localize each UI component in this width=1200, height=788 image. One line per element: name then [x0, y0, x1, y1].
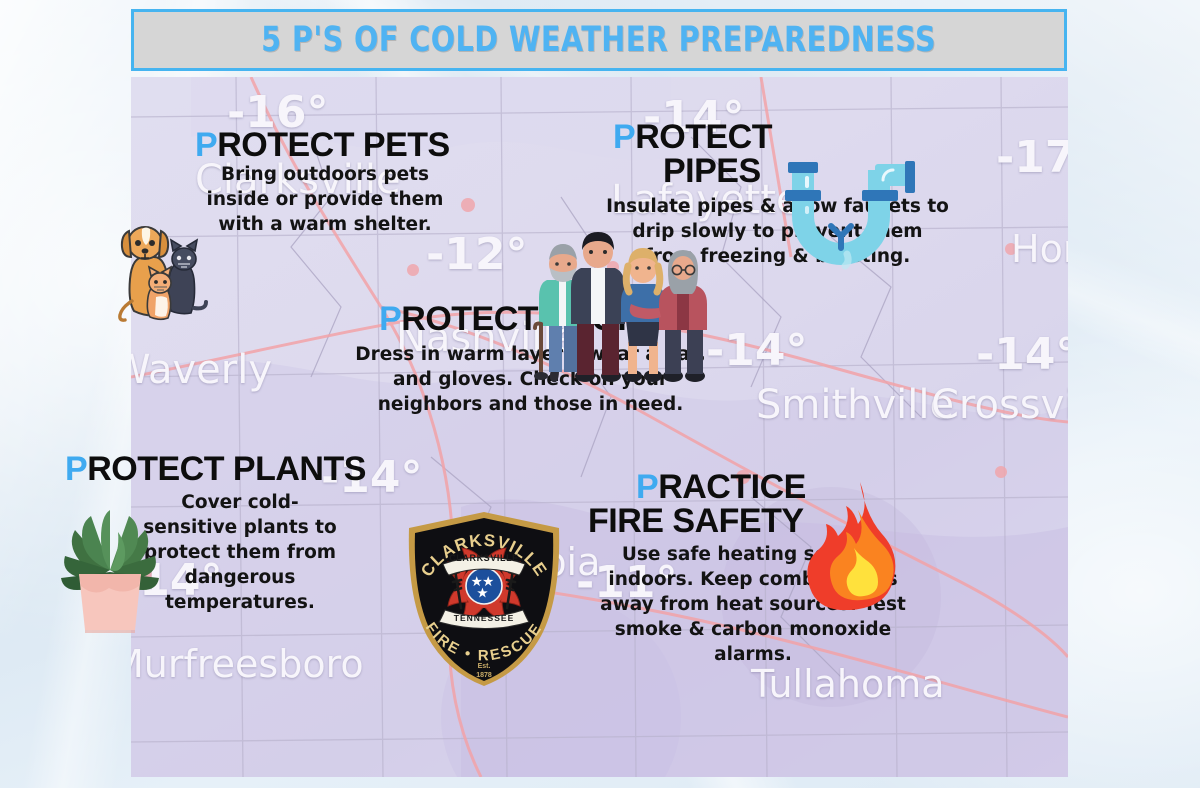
map-temperature-label: -14° — [976, 329, 1068, 380]
badge-scroll-top: CLARKSVILLE — [449, 553, 519, 563]
section-protect-pets: PROTECT PETS Bring outdoors pets inside … — [100, 128, 460, 237]
section-protect-plants: PROTECT PLANTS Cover cold-sensitive plan… — [35, 452, 375, 615]
infographic-canvas: 5 P'S OF COLD WEATHER PREPAREDNESS — [0, 0, 1200, 788]
heading-cap-letter: P — [65, 450, 87, 488]
badge-established-line1: Est. — [478, 663, 491, 670]
map-city-label: Waverly — [131, 347, 272, 393]
heading-rest: ROTECT — [635, 118, 772, 156]
title-banner: 5 P'S OF COLD WEATHER PREPAREDNESS — [131, 9, 1067, 71]
heading-rest: ROTECT PLANTS — [87, 450, 366, 488]
potted-plant-icon — [55, 504, 165, 634]
page-title: 5 P'S OF COLD WEATHER PREPAREDNESS — [261, 20, 936, 60]
flame-icon — [798, 480, 908, 610]
family-group-icon — [533, 224, 713, 394]
section-heading-plants: PROTECT PLANTS — [65, 452, 375, 486]
heading-cap-letter: P — [636, 468, 658, 506]
map-city-label: Murfreesboro — [131, 642, 364, 686]
section-body-plants: Cover cold-sensitive plants to protect t… — [140, 490, 340, 615]
u-bend-pipe-icon — [755, 154, 935, 274]
section-heading-pipes: PROTECT — [613, 120, 950, 154]
map-temperature-label: -14° — [706, 325, 808, 376]
heading-cap-letter: P — [195, 126, 217, 164]
map-city-label: Tullahoma — [751, 662, 945, 706]
section-body-pets: Bring outdoors pets inside or provide th… — [200, 162, 450, 237]
map-city-label: Homestead — [1011, 227, 1068, 271]
heading-rest: ROTECT PETS — [217, 126, 450, 164]
badge-established-line2: 1878 — [476, 672, 492, 679]
clarksville-fire-rescue-badge: CLARKSVILLE FIRE • RESCUE — [399, 508, 569, 693]
map-temperature-label: -17° — [996, 132, 1068, 183]
section-heading-pets: PROTECT PETS — [195, 128, 460, 162]
section-practice-fire-safety: PRACTICE FIRE SAFETY Use safe heating so… — [588, 470, 918, 667]
map-city-label: Smithville — [756, 382, 954, 428]
badge-scroll-bottom: TENNESSEE — [454, 613, 515, 623]
section-protect-people: PROTECT PEOPLE Dress in warm layers, wea… — [343, 302, 718, 417]
dog-and-cats-icon — [114, 213, 214, 323]
heading-cap-letter: P — [379, 300, 401, 338]
map-city-label: Crossville — [931, 382, 1068, 428]
heading-rest: RACTICE — [658, 468, 806, 506]
heading-cap-letter: P — [613, 118, 635, 156]
